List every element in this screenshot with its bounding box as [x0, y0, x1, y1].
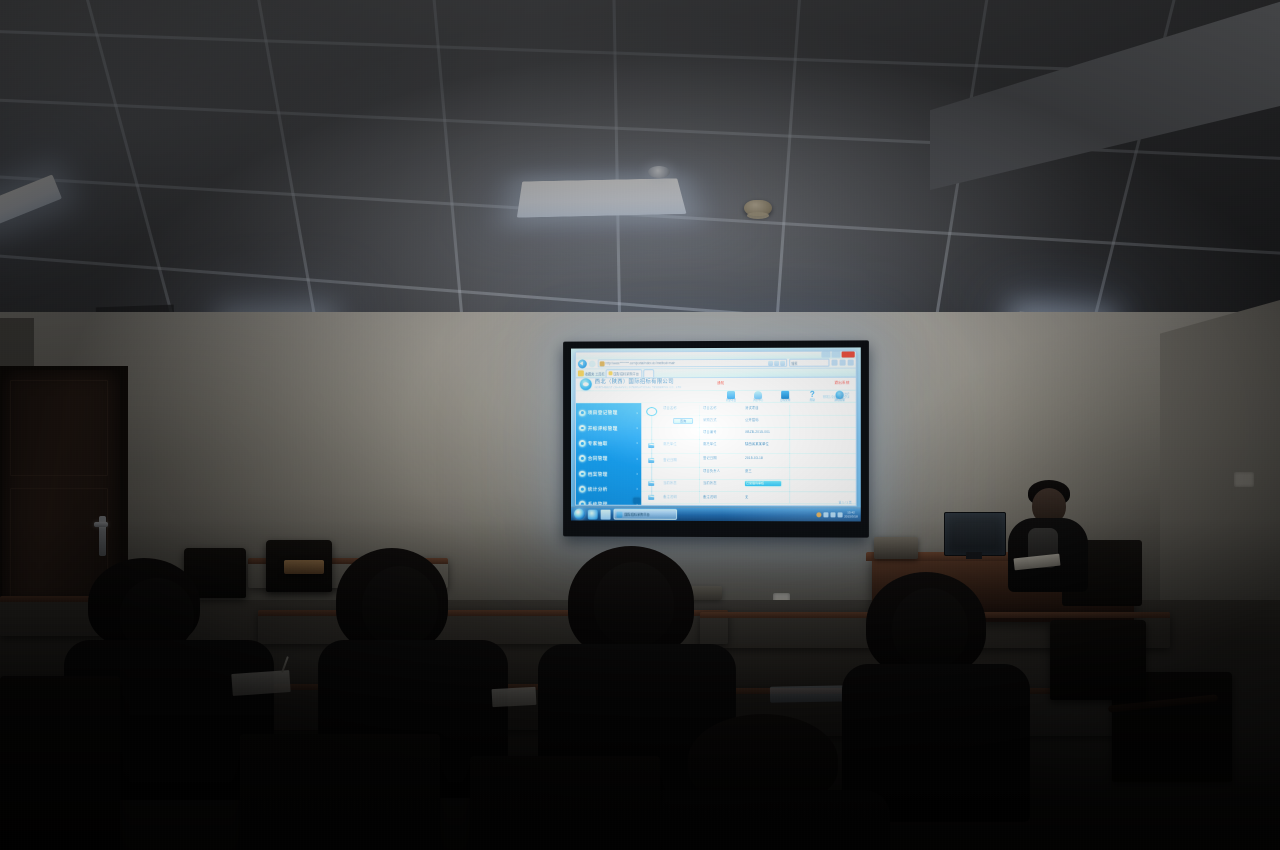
- forward-icon[interactable]: [589, 360, 596, 367]
- sidebar-menu: 项目登记管理 › 开标评标管理 › 专家抽取: [576, 403, 641, 505]
- browser-tab-active[interactable]: 国际招标采购平台: [606, 369, 642, 377]
- document-camera[interactable]: [874, 537, 918, 559]
- attendee-foreground: [640, 714, 890, 850]
- tools-gear-icon[interactable]: [848, 360, 854, 366]
- browser-window[interactable]: http://www.********.com/portal/index.do?…: [575, 350, 857, 506]
- network-icon[interactable]: [823, 512, 828, 517]
- app-toolbar: 新建项目 消息中心 日程安排 ?: [576, 390, 856, 403]
- start-orb-icon[interactable]: [574, 509, 585, 520]
- chevron-right-icon: ›: [636, 441, 638, 446]
- clock-date: 2015/3/18: [844, 515, 858, 518]
- row-separator: [641, 491, 855, 492]
- system-tray: 15:42 2015/3/18: [816, 511, 858, 518]
- ceiling-light-panel-1: [517, 178, 687, 217]
- web-page: 西北（陕西）国际招标有限公司 NORTHWEST (SHAANXI) INTER…: [576, 377, 856, 505]
- sidebar-collapse-button[interactable]: [633, 497, 640, 503]
- help-icon: ?: [808, 390, 816, 398]
- attendee-head: [594, 562, 674, 646]
- row-field-value: 无: [745, 495, 748, 499]
- toolbar-label: 帮助: [810, 399, 815, 402]
- sidebar-item-label: 专家抽取: [588, 441, 608, 446]
- selected-status-field[interactable]: 已受理待审核: [745, 481, 781, 486]
- toolbar-schedule[interactable]: 日程安排: [775, 391, 795, 403]
- windows-desktop: http://www.********.com/portal/index.do?…: [571, 347, 861, 521]
- sidebar-item-label: 开标评标管理: [588, 426, 618, 431]
- row-field-label: 备注说明: [703, 495, 717, 499]
- row-field-value: 2015-03-18: [745, 456, 763, 460]
- current-user-block: 当前用户 管理员 您好，欢迎登录: [823, 392, 850, 399]
- explorer-icon[interactable]: [601, 509, 611, 519]
- row-field-value: 测试项目: [745, 406, 759, 410]
- row-separator: [641, 439, 855, 440]
- sidebar-item-bid-opening[interactable]: 开标评标管理 ›: [576, 421, 641, 436]
- door-handle-icon[interactable]: [94, 522, 108, 527]
- gear-icon: [579, 440, 585, 446]
- taskbar-clock[interactable]: 15:42 2015/3/18: [844, 511, 858, 518]
- row-field-label: 当前状态: [703, 481, 717, 485]
- wall-mounted-display[interactable]: http://www.********.com/portal/index.do?…: [563, 340, 869, 537]
- site-favicon-icon: [600, 361, 605, 366]
- chair-right-2[interactable]: [1050, 620, 1146, 700]
- door-upper-panel: [10, 380, 108, 476]
- chevron-right-icon: ›: [636, 456, 638, 461]
- form-rows: 项目名称 项目名称 测试项目 查询 采购方式 公开招标 项目编号: [641, 403, 855, 505]
- current-user-greeting: 管理员 您好，欢迎登录: [823, 396, 850, 399]
- query-button[interactable]: 查询: [673, 418, 693, 424]
- attendee-head: [892, 588, 968, 668]
- sidebar-item-system[interactable]: 系统管理 ›: [576, 497, 641, 506]
- display-bezel: http://www.********.com/portal/index.do?…: [571, 347, 861, 521]
- stop-icon[interactable]: [780, 360, 785, 365]
- refresh-icon[interactable]: [774, 360, 779, 365]
- sidebar-item-project-registration[interactable]: 项目登记管理 ›: [576, 405, 641, 420]
- company-logo-icon: [580, 378, 592, 390]
- toolbar-message-center[interactable]: 消息中心: [748, 391, 768, 403]
- monitor-screen: [944, 512, 1006, 556]
- chair-foreground-mid[interactable]: [470, 756, 660, 850]
- row-field-label: 委托单位: [703, 442, 717, 446]
- toolbar-new-project[interactable]: 新建项目: [721, 391, 741, 403]
- mail-icon: [648, 443, 654, 447]
- chair-foreground-far-left[interactable]: [0, 676, 120, 850]
- row-field-label: 项目负责人: [703, 469, 720, 473]
- sidebar-item-expert-selection[interactable]: 专家抽取 ›: [576, 436, 641, 451]
- row-field-value: 公开招标: [745, 418, 759, 422]
- smoke-detector: [744, 200, 772, 216]
- pager-label[interactable]: 第 1 / 1 页: [839, 500, 852, 504]
- chevron-right-icon: ›: [636, 410, 638, 415]
- volume-icon[interactable]: [830, 512, 835, 517]
- toolbar-label: 日程安排: [780, 399, 790, 402]
- search-placeholder: 搜索: [791, 360, 797, 365]
- address-bar[interactable]: http://www.********.com/portal/index.do?…: [598, 359, 787, 368]
- company-name: 西北（陕西）国际招标有限公司: [595, 379, 682, 385]
- sidebar-item-label: 系统管理: [588, 502, 608, 506]
- suspended-tile-ceiling: [0, 0, 1280, 350]
- tab-favicon-icon: [609, 371, 613, 375]
- gear-icon: [579, 486, 585, 492]
- gear-icon: [579, 410, 585, 416]
- attendee-body: [640, 790, 890, 850]
- row-field-value: 张三: [745, 469, 752, 473]
- chevron-right-icon: ›: [636, 426, 638, 431]
- toolbar-label: 通知提醒: [834, 399, 844, 402]
- sidebar-item-label: 合同管理: [588, 456, 608, 461]
- toolbar-help[interactable]: ? 帮助: [802, 390, 822, 402]
- row-caption: 项目名称: [663, 406, 677, 410]
- favorites-star-icon[interactable]: [840, 360, 846, 366]
- gear-icon: [579, 455, 585, 461]
- maximize-button[interactable]: [831, 352, 840, 358]
- row-field-label: 登记日期: [703, 456, 717, 460]
- windows-taskbar: 国际招标采购平台 15:42 2015/3/18: [571, 507, 861, 522]
- recessed-downlight-icon: [648, 166, 670, 178]
- row-field-label: 项目编号: [703, 430, 717, 434]
- wall-switch-plate: [1234, 472, 1254, 487]
- row-separator: [641, 503, 855, 505]
- row-caption: 当前状态: [663, 481, 677, 485]
- new-document-icon: [727, 391, 735, 399]
- ie-icon[interactable]: [588, 509, 598, 519]
- notepaper-left: [231, 670, 290, 696]
- taskbar-task-label: 国际招标采购平台: [624, 512, 649, 517]
- query-button-label: 查询: [680, 419, 686, 423]
- sidebar-item-label: 档案管理: [588, 471, 608, 476]
- sidebar-item-statistics[interactable]: 统计分析 ›: [576, 481, 641, 496]
- row-field-label: 项目名称: [703, 406, 717, 410]
- minimize-button[interactable]: [821, 352, 830, 358]
- row-separator: [641, 453, 855, 454]
- sidebar-item-archives[interactable]: 档案管理 ›: [576, 466, 641, 481]
- row-field-value: XBZB-2015-001: [745, 430, 770, 434]
- gear-icon: [579, 471, 585, 477]
- row-separator: [641, 415, 855, 416]
- favorites-bar-label[interactable]: 收藏夹 工具栏: [585, 371, 605, 376]
- taskbar-task-button[interactable]: 国际招标采购平台: [614, 509, 678, 520]
- sidebar-item-label: 项目登记管理: [588, 410, 618, 415]
- conference-room-scene: http://www.********.com/portal/index.do?…: [0, 0, 1280, 850]
- row-caption: 登记日期: [663, 458, 677, 462]
- address-value: http://www.********.com/portal/index.do?…: [606, 361, 676, 365]
- mail-icon: [648, 458, 654, 462]
- podium-monitor[interactable]: [944, 512, 1006, 556]
- toolbar-label: 新建项目: [726, 399, 736, 402]
- row-separator: [641, 427, 855, 428]
- sidebar-item-contracts[interactable]: 合同管理 ›: [576, 451, 641, 466]
- task-app-icon: [616, 511, 622, 517]
- close-button[interactable]: [842, 352, 855, 358]
- chevron-right-icon: ›: [636, 487, 638, 492]
- mail-icon: [648, 495, 654, 500]
- app-body: 项目登记管理 › 开标评标管理 › 专家抽取: [576, 403, 856, 505]
- gear-icon: [579, 425, 585, 431]
- tab-title: 国际招标采购平台: [614, 371, 639, 376]
- attendee-head: [362, 566, 438, 646]
- chair-foreground-left[interactable]: [240, 734, 440, 850]
- company-subtitle: NORTHWEST (SHAANXI) INTERNATIONAL TENDER…: [595, 386, 682, 389]
- favorites-bar-icon[interactable]: [578, 370, 584, 376]
- input-method-icon[interactable]: [816, 512, 821, 517]
- content-panel: 项目名称 项目名称 测试项目 查询 采购方式 公开招标 项目编号: [641, 403, 855, 505]
- header-notice: 通知: [717, 381, 725, 386]
- mail-icon: [648, 481, 654, 485]
- row-field-value: 陕西省某某单位: [745, 442, 769, 446]
- home-icon[interactable]: [831, 360, 837, 366]
- sidebar-item-label: 统计分析: [588, 487, 608, 492]
- monitor-stand: [966, 552, 982, 559]
- action-center-icon[interactable]: [837, 512, 842, 517]
- row-field-label: 采购方式: [703, 418, 717, 422]
- gear-icon: [579, 501, 585, 505]
- compatibility-view-icon[interactable]: [768, 360, 773, 365]
- new-tab-button[interactable]: [643, 369, 654, 377]
- chevron-right-icon: ›: [636, 471, 638, 476]
- search-input[interactable]: 搜索: [789, 359, 829, 367]
- row-caption: 备注说明: [663, 495, 677, 499]
- calendar-icon: [781, 391, 789, 399]
- message-icon: [754, 391, 762, 399]
- row-caption: 委托单位: [663, 442, 677, 446]
- logout-link[interactable]: 退出系统: [834, 380, 849, 385]
- browser-command-bar: [831, 360, 853, 366]
- notepaper-mid: [492, 687, 537, 707]
- toolbar-label: 消息中心: [753, 399, 763, 402]
- selected-status-value: 已受理待审核: [746, 481, 764, 485]
- back-icon[interactable]: [578, 359, 587, 368]
